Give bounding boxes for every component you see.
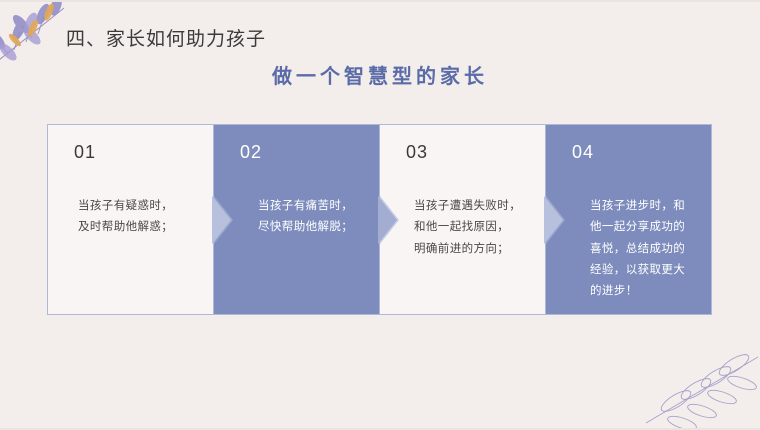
process-chevron-band: 01 当孩子有疑惑时， 及时帮助他解惑； 02 当孩子有痛苦时， 尽快帮助他解脱… xyxy=(47,124,712,315)
step-number: 02 xyxy=(240,143,359,161)
process-step-03[interactable]: 03 当孩子遭遇失败时， 和他一起找原因， 明确前进的方向； xyxy=(379,125,545,314)
process-step-02[interactable]: 02 当孩子有痛苦时， 尽快帮助他解脱； xyxy=(213,125,379,314)
step-body: 当孩子有疑惑时， 及时帮助他解惑； xyxy=(74,195,193,238)
step-number: 01 xyxy=(74,143,193,161)
chevron-arrow-icon xyxy=(378,196,397,244)
slide-canvas: 四、家长如何助力孩子 做一个智慧型的家长 01 当孩子有疑惑时， 及时帮助他解惑… xyxy=(0,0,760,430)
step-body-line: 喜悦，总结成功的 xyxy=(590,238,691,259)
step-body-line: 他一起分享成功的 xyxy=(590,216,691,237)
process-step-01[interactable]: 01 当孩子有疑惑时， 及时帮助他解惑； xyxy=(48,125,213,314)
chevron-arrow-icon xyxy=(544,196,563,244)
page-subtitle: 做一个智慧型的家长 xyxy=(0,60,760,89)
step-body-line: 及时帮助他解惑； xyxy=(78,216,193,237)
step-body: 当孩子遭遇失败时， 和他一起找原因， 明确前进的方向； xyxy=(406,195,525,259)
chevron-arrow-icon xyxy=(212,196,231,244)
step-body-line: 明确前进的方向； xyxy=(414,238,525,259)
step-body-line: 经验，以获取更大 xyxy=(590,259,691,280)
process-step-04[interactable]: 04 当孩子进步时，和 他一起分享成功的 喜悦，总结成功的 经验，以获取更大 的… xyxy=(545,125,711,314)
leaf-branch-bottom-right-icon xyxy=(616,339,760,430)
step-number: 03 xyxy=(406,143,525,161)
step-number: 04 xyxy=(572,143,691,161)
step-body-line: 和他一起找原因， xyxy=(414,216,525,237)
step-body-line: 当孩子遭遇失败时， xyxy=(414,195,525,216)
step-body-line: 当孩子有疑惑时， xyxy=(78,195,193,216)
step-body: 当孩子有痛苦时， 尽快帮助他解脱； xyxy=(240,195,359,238)
step-body: 当孩子进步时，和 他一起分享成功的 喜悦，总结成功的 经验，以获取更大 的进步！ xyxy=(572,195,691,301)
step-body-line: 当孩子有痛苦时， xyxy=(258,195,359,216)
page-title: 四、家长如何助力孩子 xyxy=(66,24,266,51)
step-body-line: 当孩子进步时，和 xyxy=(590,195,691,216)
step-body-line: 的进步！ xyxy=(590,280,691,301)
step-body-line: 尽快帮助他解脱； xyxy=(258,216,359,237)
